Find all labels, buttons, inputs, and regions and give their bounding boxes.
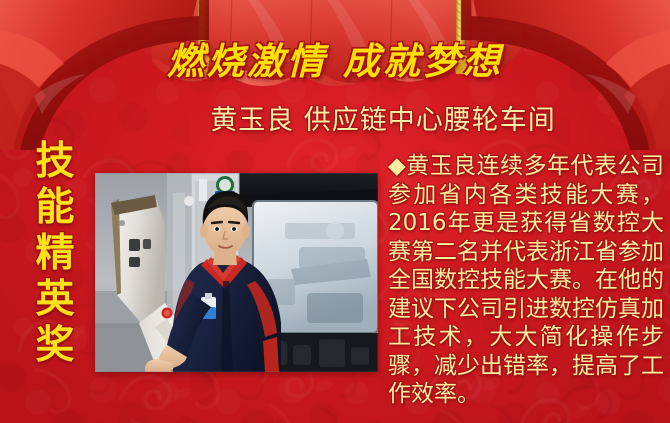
poster-headline: 燃烧激情 成就梦想 xyxy=(0,38,670,84)
poster-subtitle: 黄玉良 供应链中心腰轮车间 xyxy=(96,104,670,138)
award-char-4: 英 xyxy=(35,278,74,322)
award-vertical-label: 技 能 精 英 奖 xyxy=(30,140,80,368)
worker-photo xyxy=(95,173,378,372)
award-char-2: 能 xyxy=(35,186,74,230)
award-char-1: 技 xyxy=(35,140,74,184)
award-char-5: 奖 xyxy=(35,324,74,368)
award-poster: 燃烧激情 成就梦想 黄玉良 供应链中心腰轮车间 技 能 精 英 奖 xyxy=(0,0,670,423)
award-char-3: 精 xyxy=(35,232,74,276)
award-description-text: ◆黄玉良连续多年代表公司参加省内各类技能大赛，2016年更是获得省数控大赛第二名… xyxy=(388,152,664,409)
